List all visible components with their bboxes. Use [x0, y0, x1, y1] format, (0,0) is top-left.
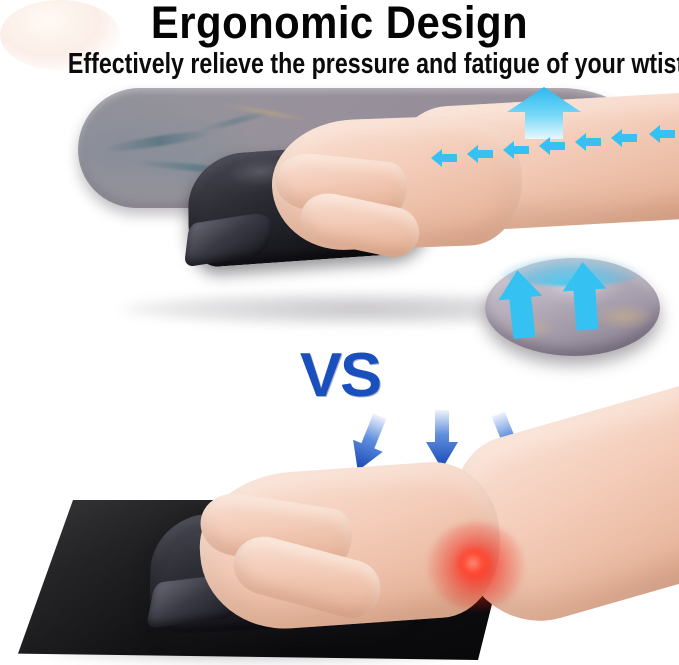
- forearm-relief-arrow-4: [538, 136, 566, 156]
- marble-vein: [104, 127, 214, 154]
- forearm-relief-arrow-5: [574, 132, 602, 152]
- marble-vein: [219, 102, 314, 124]
- wrist-support-arrow-right: [562, 260, 608, 334]
- pressure-arrow-center: [425, 408, 459, 470]
- marble-vein: [197, 108, 274, 134]
- vs-divider-label: VS: [248, 345, 432, 407]
- forearm-relief-arrow-1: [430, 148, 458, 168]
- forearm-relief-arrow-7: [648, 124, 676, 144]
- wrist-support-arrow-left: [498, 268, 544, 342]
- page-subtitle: Effectively relieve the pressure and fat…: [68, 48, 611, 80]
- product-feature-image: Ergonomic Design Effectively relieve the…: [0, 0, 679, 665]
- lift-arrow-icon: [506, 86, 582, 140]
- page-title: Ergonomic Design: [24, 0, 655, 46]
- forearm-relief-arrow-3: [502, 140, 530, 160]
- forearm-relief-arrow-2: [466, 144, 494, 164]
- forearm-relief-arrow-6: [610, 128, 638, 148]
- wrist-pain-core: [456, 548, 490, 578]
